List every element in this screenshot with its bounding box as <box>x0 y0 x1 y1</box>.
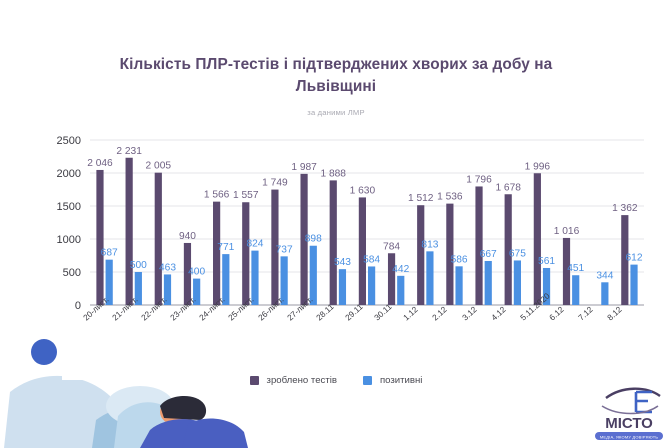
bar-positive[interactable] <box>368 266 375 305</box>
bar-value-label-tests: 1 888 <box>320 168 346 179</box>
bar-value-label-positive: 687 <box>101 248 118 259</box>
bar-positive[interactable] <box>485 261 492 305</box>
bar-value-label-tests: 1 362 <box>612 203 638 214</box>
bar-tests[interactable] <box>388 253 395 305</box>
bar-positive[interactable] <box>426 251 433 305</box>
misto-logo[interactable]: МІСТО МЕДІА, ЯКОМУ ДОВІРЯЮТЬ <box>592 372 666 442</box>
bar-value-label-tests: 1 512 <box>408 193 434 204</box>
bar-value-label-positive: 898 <box>305 234 322 245</box>
bar-value-label-tests: 1 536 <box>437 192 463 203</box>
y-axis-tick-label: 500 <box>63 267 81 279</box>
bar-positive[interactable] <box>572 275 579 305</box>
chart-plot-area: 05001000150020002500 2 0466872 2315002 0… <box>0 132 672 317</box>
bar-tests[interactable] <box>213 202 220 305</box>
bar-value-label-positive: 500 <box>130 260 147 271</box>
bar-value-label-tests: 2 005 <box>146 161 172 172</box>
legend-swatch-tests <box>250 376 259 385</box>
bar-value-label-positive: 586 <box>451 254 468 265</box>
chart-subtitle: за даними ЛМР <box>0 98 672 117</box>
logo-tagline-text: МЕДІА, ЯКОМУ ДОВІРЯЮТЬ <box>600 434 659 439</box>
bar-value-label-positive: 442 <box>392 264 409 275</box>
chart-x-axis: 20-лист.21-лист.22-лист.23-лист.24-лист.… <box>0 313 672 365</box>
y-axis-tick-label: 2000 <box>57 168 81 180</box>
bar-tests[interactable] <box>534 173 541 305</box>
bar-tests[interactable] <box>475 186 482 305</box>
bar-value-label-positive: 675 <box>509 248 526 259</box>
bar-positive[interactable] <box>310 246 317 305</box>
bar-positive[interactable] <box>397 276 404 305</box>
bar-value-label-tests: 940 <box>179 231 196 242</box>
bar-value-label-positive: 561 <box>538 256 555 267</box>
bar-value-label-tests: 1 996 <box>525 161 551 172</box>
bar-value-label-positive: 737 <box>276 244 293 255</box>
bar-value-label-positive: 451 <box>567 263 584 274</box>
logo-brand-text: МІСТО <box>605 415 653 432</box>
bar-positive[interactable] <box>514 260 521 305</box>
bar-tests[interactable] <box>96 170 103 305</box>
chart-legend: зроблено тестів позитивні <box>0 369 672 391</box>
chart-gridlines <box>90 140 644 305</box>
y-axis-tick-label: 2500 <box>57 135 81 147</box>
bar-value-label-positive: 771 <box>217 242 234 253</box>
bar-value-label-tests: 1 630 <box>350 185 376 196</box>
bar-positive[interactable] <box>630 265 637 305</box>
bar-value-label-positive: 400 <box>188 267 205 278</box>
bar-tests[interactable] <box>330 180 337 305</box>
bar-value-label-positive: 612 <box>626 253 643 264</box>
y-axis-tick-label: 0 <box>75 300 81 312</box>
bar-value-label-positive: 543 <box>334 257 351 268</box>
chart-y-axis: 05001000150020002500 <box>57 135 81 312</box>
bar-value-label-tests: 2 046 <box>87 158 113 169</box>
legend-swatch-positive <box>363 376 372 385</box>
legend-label-tests: зроблено тестів <box>267 375 337 386</box>
bar-positive[interactable] <box>601 282 608 305</box>
bar-value-label-tests: 2 231 <box>116 146 142 157</box>
legend-label-positive: позитивні <box>380 375 422 386</box>
bar-value-label-positive: 344 <box>596 270 613 281</box>
bar-tests[interactable] <box>417 205 424 305</box>
bar-tests[interactable] <box>242 202 249 305</box>
bar-value-label-tests: 1 796 <box>466 174 492 185</box>
chart-header: Кількість ПЛР-тестів і підтверджених хво… <box>0 0 672 117</box>
legend-item-positive[interactable]: позитивні <box>363 375 422 386</box>
bar-value-label-positive: 584 <box>363 254 380 265</box>
bar-tests[interactable] <box>126 158 133 305</box>
bar-tests[interactable] <box>359 197 366 305</box>
bar-value-label-positive: 667 <box>480 249 497 260</box>
y-axis-tick-label: 1000 <box>57 234 81 246</box>
bar-value-label-tests: 1 557 <box>233 190 259 201</box>
bar-tests[interactable] <box>155 173 162 305</box>
bar-value-label-positive: 463 <box>159 262 176 273</box>
bar-value-label-tests: 1 016 <box>554 226 580 237</box>
bar-value-label-tests: 1 749 <box>262 178 288 189</box>
bar-value-label-tests: 1 987 <box>291 162 317 173</box>
bar-positive[interactable] <box>455 266 462 305</box>
bar-value-label-tests: 784 <box>383 241 400 252</box>
y-axis-tick-label: 1500 <box>57 201 81 213</box>
bar-positive[interactable] <box>339 269 346 305</box>
bar-value-label-tests: 1 678 <box>495 182 521 193</box>
bar-value-label-tests: 1 566 <box>204 190 230 201</box>
page-title: Кількість ПЛР-тестів і підтверджених хво… <box>0 0 672 98</box>
bar-value-label-positive: 813 <box>421 239 438 250</box>
bar-positive[interactable] <box>251 251 258 305</box>
bar-value-label-positive: 824 <box>246 239 263 250</box>
legend-item-tests[interactable]: зроблено тестів <box>250 375 337 386</box>
